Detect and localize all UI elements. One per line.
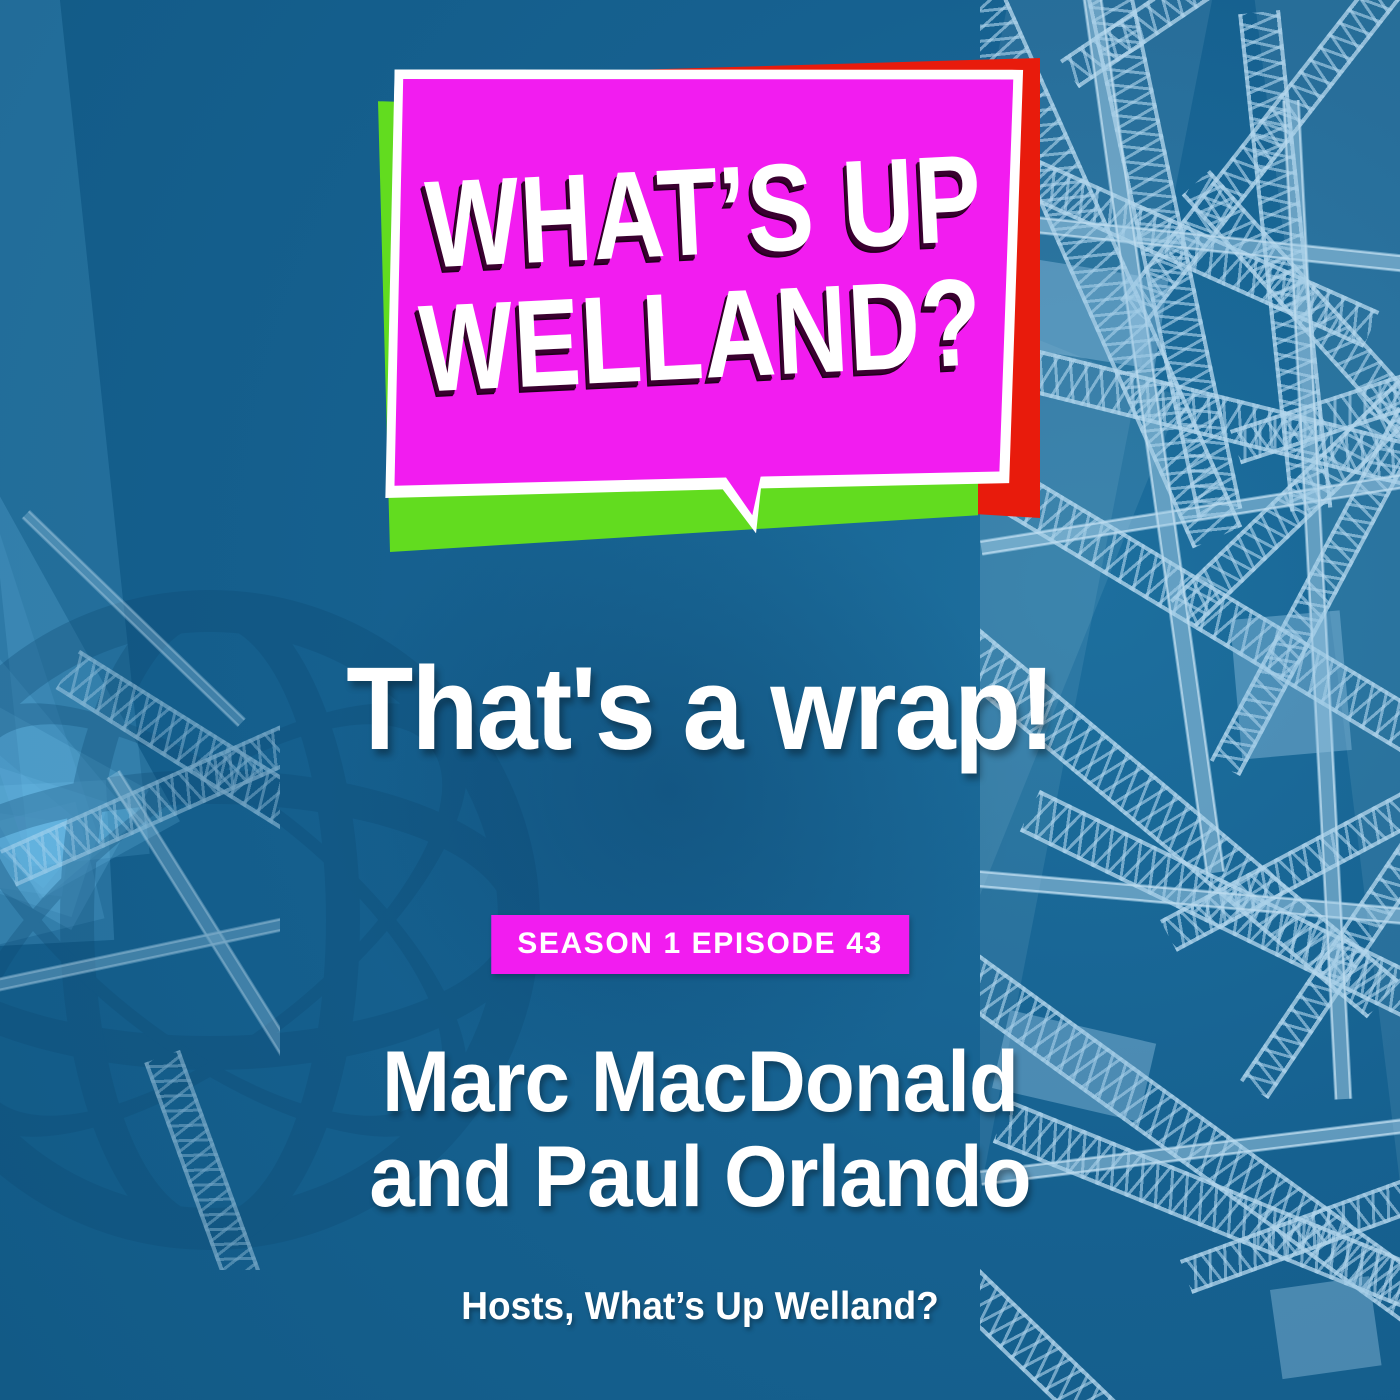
logo-speech-bubble: WHAT’S UP WELLAND? bbox=[378, 54, 1025, 539]
logo-line-two: WELLAND? bbox=[417, 265, 985, 406]
host-role-subtitle: Hosts, What’s Up Welland? bbox=[35, 1285, 1365, 1329]
host-names-line-two: and Paul Orlando bbox=[35, 1130, 1365, 1225]
podcast-cover-art: WHAT’S UP WELLAND? That's a wrap! SEASON… bbox=[0, 0, 1400, 1400]
season-episode-badge: SEASON 1 EPISODE 43 bbox=[491, 915, 909, 974]
show-logo: WHAT’S UP WELLAND? bbox=[370, 50, 1050, 550]
host-names-line-one: Marc MacDonald bbox=[35, 1035, 1365, 1130]
episode-title: That's a wrap! bbox=[49, 648, 1351, 771]
host-names: Marc MacDonald and Paul Orlando bbox=[35, 1035, 1365, 1224]
soft-shadow-blob bbox=[320, 470, 1020, 1110]
logo-text-block: WHAT’S UP WELLAND? bbox=[380, 54, 1026, 469]
